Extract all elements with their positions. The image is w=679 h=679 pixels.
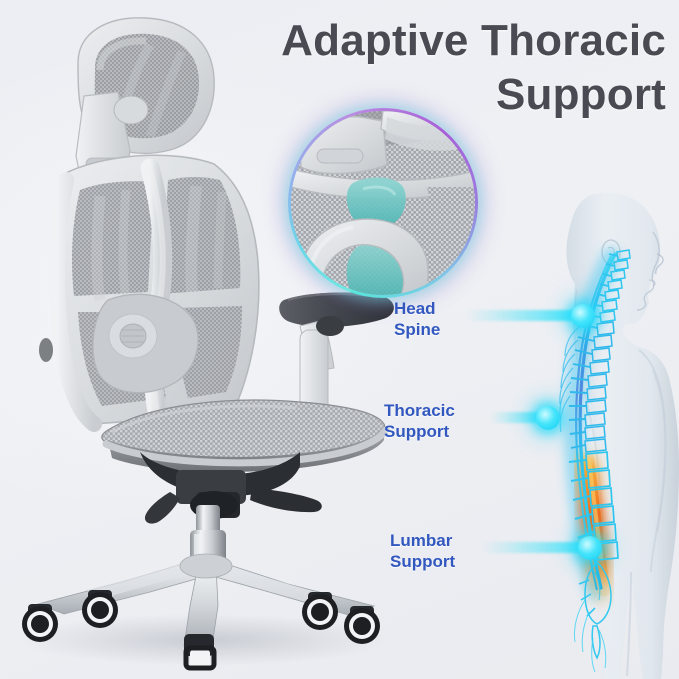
inset-content <box>291 111 475 295</box>
headrest-pivot <box>114 96 148 124</box>
page-title: Adaptive Thoracic Support <box>180 14 666 122</box>
callout-head-spine-beam <box>466 310 586 321</box>
callout-lumbar-support-label: Lumbar Support <box>390 530 455 572</box>
callout-head-spine-line-2: Spine <box>394 319 440 340</box>
product-feature-image: Adaptive Thoracic Support <box>0 0 679 679</box>
page-title-line-2: Support <box>180 68 666 122</box>
adaptive-lumbar-pad <box>93 294 198 392</box>
callout-lumbar-support: Lumbar Support <box>390 530 455 572</box>
callout-head-spine: Head Spine <box>394 298 440 340</box>
callout-head-spine-line-1: Head <box>394 298 440 319</box>
mesh-backrest <box>39 155 259 424</box>
nerve-filaments <box>574 600 605 672</box>
callout-lumbar-support-line-2: Support <box>390 551 455 572</box>
callout-head-spine-marker <box>571 304 595 328</box>
callout-thoracic-support-line-1: Thoracic <box>384 400 455 421</box>
callout-thoracic-support-label: Thoracic Support <box>384 400 455 442</box>
callout-thoracic-support-marker <box>536 406 560 430</box>
callout-thoracic-support-line-2: Support <box>384 421 455 442</box>
callout-head-spine-label: Head Spine <box>394 298 440 340</box>
callout-thoracic-support: Thoracic Support <box>384 400 455 442</box>
page-title-line-1: Adaptive Thoracic <box>180 14 666 68</box>
magnified-detail-inset <box>288 108 478 298</box>
callout-lumbar-support-marker <box>578 536 602 560</box>
spine-anatomy-figure <box>493 180 679 679</box>
callout-lumbar-support-line-1: Lumbar <box>390 530 455 551</box>
